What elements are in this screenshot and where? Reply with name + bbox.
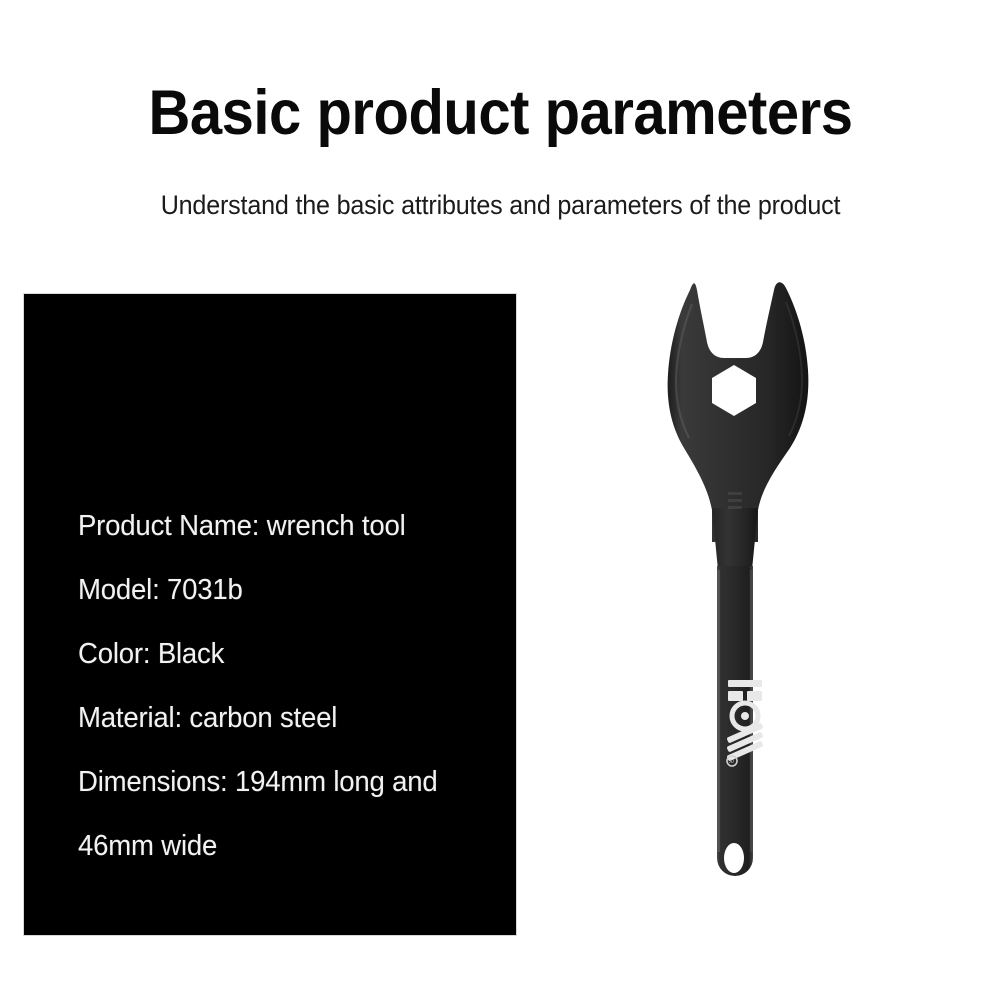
spec-line-product-name: Product Name: wrench tool: [78, 494, 487, 558]
spec-line-model: Model: 7031b: [78, 558, 487, 622]
spec-line-dimensions: Dimensions: 194mm long and: [78, 750, 487, 814]
page-subtitle: Understand the basic attributes and para…: [35, 192, 966, 219]
product-photo-wrench: [600, 270, 900, 950]
spec-line-dimensions-continued: 46mm wide: [78, 814, 487, 878]
spec-line-color: Color: Black: [78, 622, 487, 686]
page-title: Basic product parameters: [40, 82, 961, 145]
specification-panel: Product Name: wrench tool Model: 7031b C…: [24, 294, 516, 935]
spec-line-material: Material: carbon steel: [78, 686, 487, 750]
specification-list: Product Name: wrench tool Model: 7031b C…: [78, 494, 508, 878]
